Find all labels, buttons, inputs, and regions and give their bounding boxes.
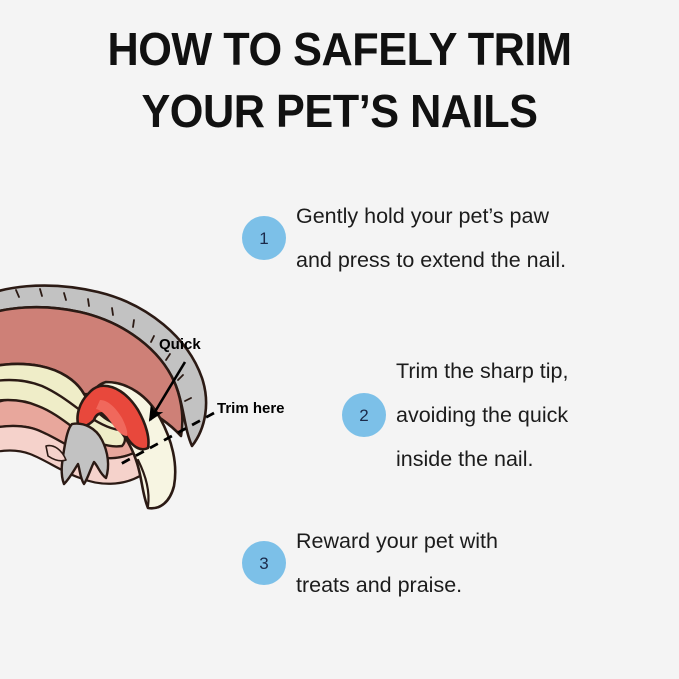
infographic-canvas: HOW TO SAFELY TRIM YOUR PET’S NAILS (0, 0, 679, 679)
step-item-3: 3 Reward your pet with treats and praise… (242, 519, 498, 607)
step-badge-1: 1 (242, 216, 286, 260)
step-3-line-2: treats and praise. (296, 563, 498, 607)
step-2-line-3: inside the nail. (396, 437, 568, 481)
dog-claw-cross-section-illustration (0, 278, 308, 513)
step-2-line-2: avoiding the quick (396, 393, 568, 437)
title-line-1: HOW TO SAFELY TRIM (20, 18, 658, 80)
step-2-line-1: Trim the sharp tip, (396, 349, 568, 393)
step-item-1: 1 Gently hold your pet’s paw and press t… (242, 194, 566, 282)
step-1-line-2: and press to extend the nail. (296, 238, 566, 282)
step-text-3: Reward your pet with treats and praise. (296, 519, 498, 607)
trim-here-label: Trim here (217, 400, 285, 417)
step-1-line-1: Gently hold your pet’s paw (296, 194, 566, 238)
step-text-2: Trim the sharp tip, avoiding the quick i… (396, 349, 568, 481)
step-item-2: 2 Trim the sharp tip, avoiding the quick… (342, 349, 568, 481)
title-line-2: YOUR PET’S NAILS (20, 80, 658, 142)
step-badge-3: 3 (242, 541, 286, 585)
step-3-line-1: Reward your pet with (296, 519, 498, 563)
quick-label: Quick (159, 336, 201, 353)
step-text-1: Gently hold your pet’s paw and press to … (296, 194, 566, 282)
page-title: HOW TO SAFELY TRIM YOUR PET’S NAILS (0, 18, 679, 142)
step-badge-2: 2 (342, 393, 386, 437)
